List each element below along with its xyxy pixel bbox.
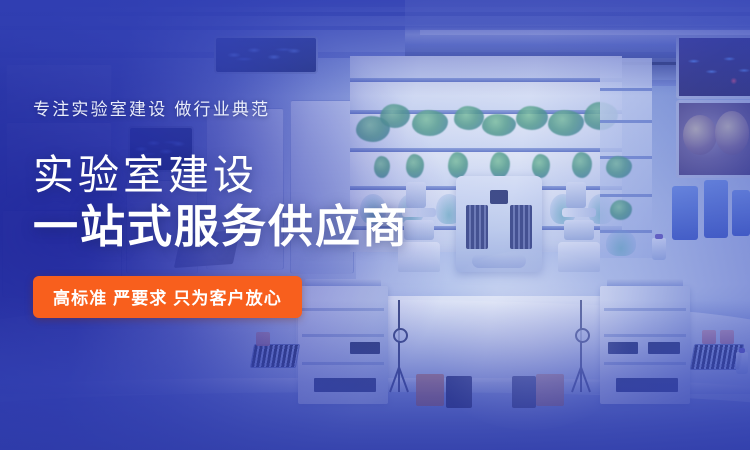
grade-bottom-fade	[0, 300, 750, 450]
grade-top-fade	[0, 0, 750, 96]
hero-banner: 专注实验室建设 做行业典范 实验室建设 一站式服务供应商 高标准 严要求 只为客…	[0, 0, 750, 450]
hero-copy-block: 专注实验室建设 做行业典范 实验室建设 一站式服务供应商 高标准 严要求 只为客…	[33, 100, 453, 318]
hero-promise-badge[interactable]: 高标准 严要求 只为客户放心	[33, 276, 302, 318]
hero-tagline: 专注实验室建设 做行业典范	[33, 100, 453, 120]
hero-headline-line2: 一站式服务供应商	[33, 202, 453, 252]
hero-headline-line1: 实验室建设	[33, 154, 453, 197]
